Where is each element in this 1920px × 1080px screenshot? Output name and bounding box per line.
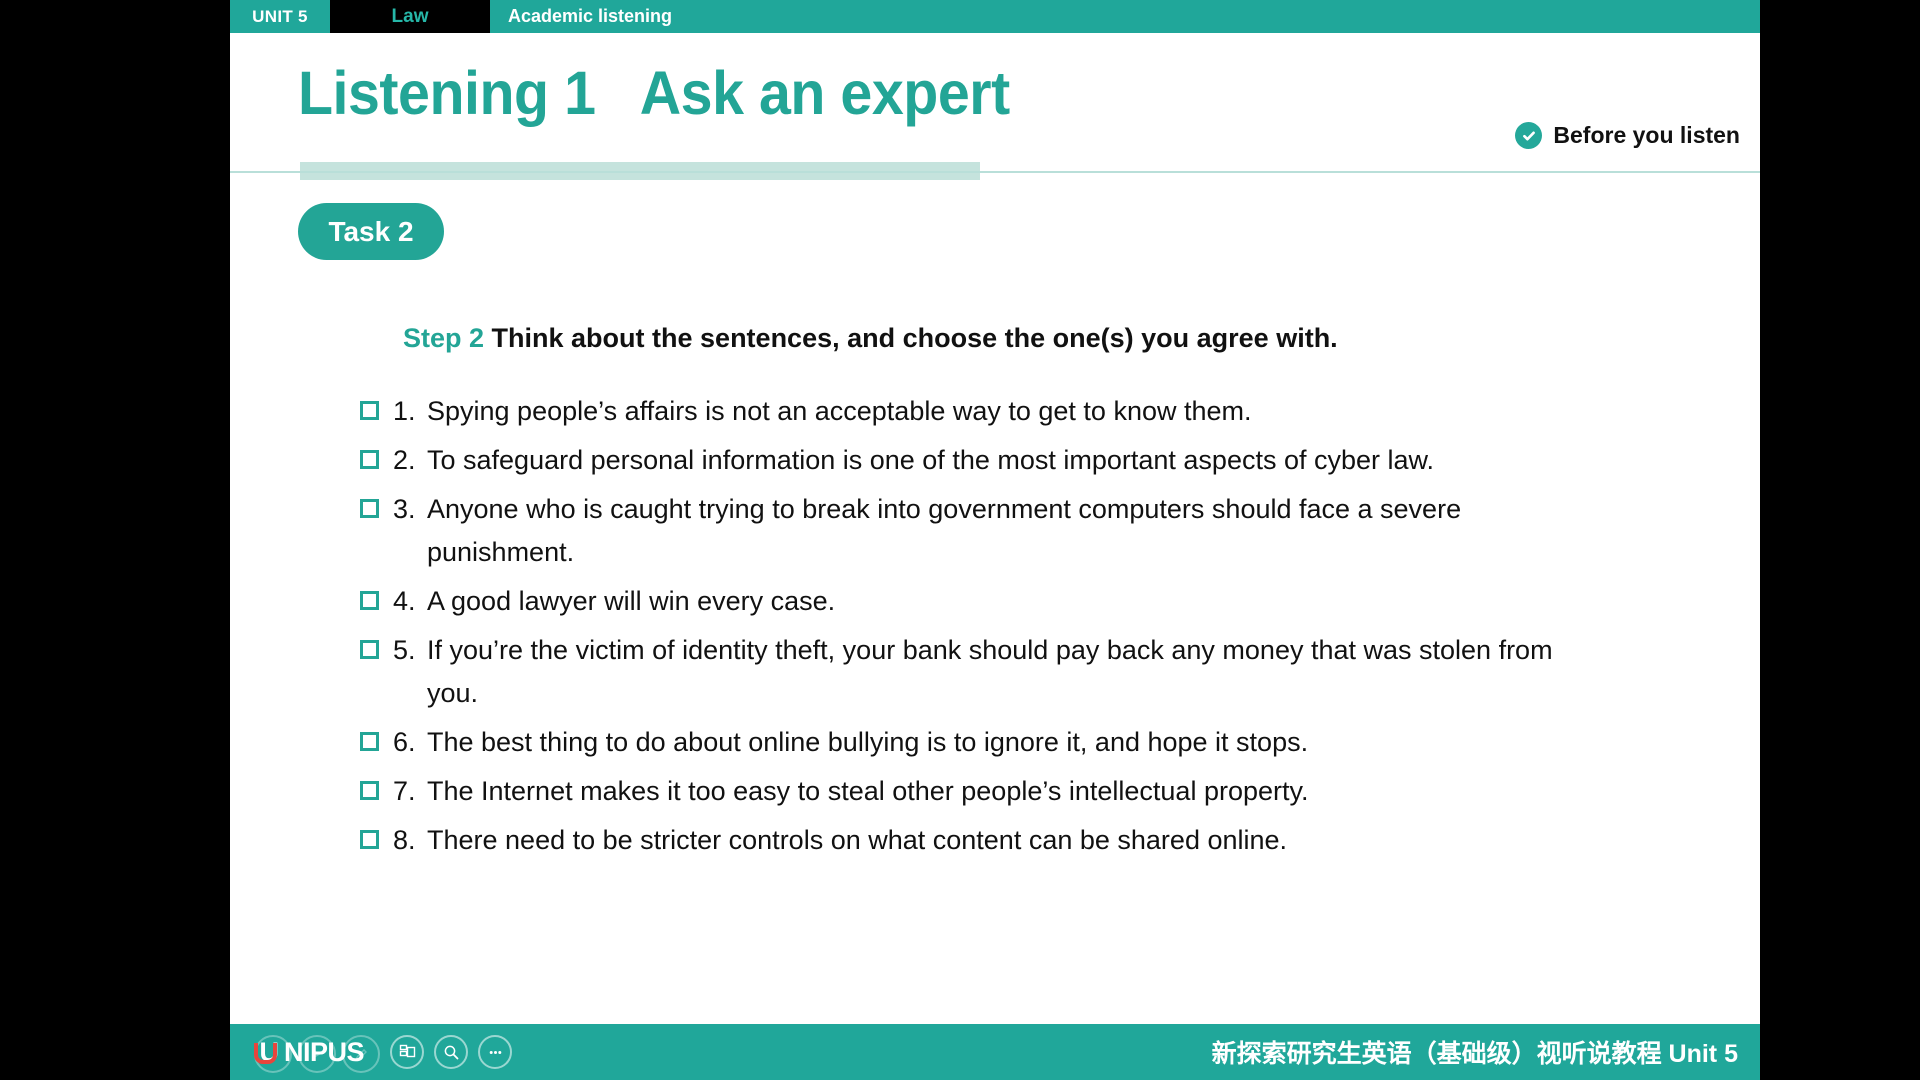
list-item-label: There need to be stricter controls on wh…: [427, 819, 1287, 862]
step-instruction-text: Think about the sentences, and choose th…: [484, 323, 1338, 353]
list-item-number: 1.: [393, 390, 427, 433]
tab-academic-listening[interactable]: Academic listening: [490, 0, 672, 33]
list-item-label: The best thing to do about online bullyi…: [427, 721, 1308, 764]
more-icon[interactable]: [478, 1035, 512, 1069]
unipus-logo-text: UNIPUS: [254, 1037, 364, 1068]
list-item[interactable]: 7. The Internet makes it too easy to ste…: [360, 770, 1720, 813]
list-item-number: 2.: [393, 439, 427, 482]
list-item-label: Spying people’s affairs is not an accept…: [427, 390, 1252, 433]
check-circle-icon: [1515, 122, 1542, 149]
list-item[interactable]: 5. If you’re the victim of identity thef…: [360, 629, 1720, 715]
search-icon[interactable]: [434, 1035, 468, 1069]
list-item-label: To safeguard personal information is one…: [427, 439, 1434, 482]
before-you-listen: Before you listen: [1515, 122, 1740, 149]
title-rule: [230, 171, 1760, 173]
statement-list: 1. Spying people’s affairs is not an acc…: [360, 390, 1720, 868]
checkbox-icon[interactable]: [360, 732, 379, 751]
list-item-number: 7.: [393, 770, 427, 813]
tab-unit[interactable]: UNIT 5: [230, 0, 330, 33]
checkbox-icon[interactable]: [360, 781, 379, 800]
slide-root: UNIT 5 Law Academic listening Listening …: [0, 0, 1920, 1080]
checkbox-icon[interactable]: [360, 450, 379, 469]
task-badge: Task 2: [298, 203, 444, 260]
footer-tools: [390, 1035, 512, 1069]
checkbox-icon[interactable]: [360, 640, 379, 659]
list-item[interactable]: 3. Anyone who is caught trying to break …: [360, 488, 1720, 574]
header-bar: UNIT 5 Law Academic listening: [230, 0, 1760, 33]
step-label: Step 2: [403, 323, 484, 353]
checkbox-icon[interactable]: [360, 499, 379, 518]
step-instruction: Step 2 Think about the sentences, and ch…: [358, 292, 1338, 385]
list-item-number: 5.: [393, 629, 427, 672]
layout-icon[interactable]: [390, 1035, 424, 1069]
list-item-label: Anyone who is caught trying to break int…: [427, 488, 1607, 574]
before-you-listen-label: Before you listen: [1553, 122, 1740, 149]
list-item-label: The Internet makes it too easy to steal …: [427, 770, 1309, 813]
tab-topic-law[interactable]: Law: [330, 0, 490, 33]
list-item[interactable]: 6. The best thing to do about online bul…: [360, 721, 1720, 764]
unipus-u-mark-icon: [254, 1043, 277, 1064]
slide-page: UNIT 5 Law Academic listening Listening …: [230, 0, 1760, 1080]
list-item[interactable]: 4. A good lawyer will win every case.: [360, 580, 1720, 623]
footer-bar: UNIPUS: [230, 1024, 1760, 1080]
list-item-label: A good lawyer will win every case.: [427, 580, 835, 623]
unipus-logo-rest: NIPUS: [284, 1037, 364, 1068]
list-item-number: 4.: [393, 580, 427, 623]
course-title: 新探索研究生英语（基础级）视听说教程 Unit 5: [1212, 1034, 1738, 1070]
list-item[interactable]: 1. Spying people’s affairs is not an acc…: [360, 390, 1720, 433]
checkbox-icon[interactable]: [360, 830, 379, 849]
checkbox-icon[interactable]: [360, 591, 379, 610]
list-item-number: 8.: [393, 819, 427, 862]
list-item-number: 3.: [393, 488, 427, 531]
list-item[interactable]: 2. To safeguard personal information is …: [360, 439, 1720, 482]
list-item-label: If you’re the victim of identity theft, …: [427, 629, 1607, 715]
checkbox-icon[interactable]: [360, 401, 379, 420]
unipus-logo[interactable]: UNIPUS: [254, 1024, 364, 1080]
list-item[interactable]: 8. There need to be stricter controls on…: [360, 819, 1720, 862]
page-title: Listening 1 Ask an expert: [298, 58, 1010, 128]
list-item-number: 6.: [393, 721, 427, 764]
